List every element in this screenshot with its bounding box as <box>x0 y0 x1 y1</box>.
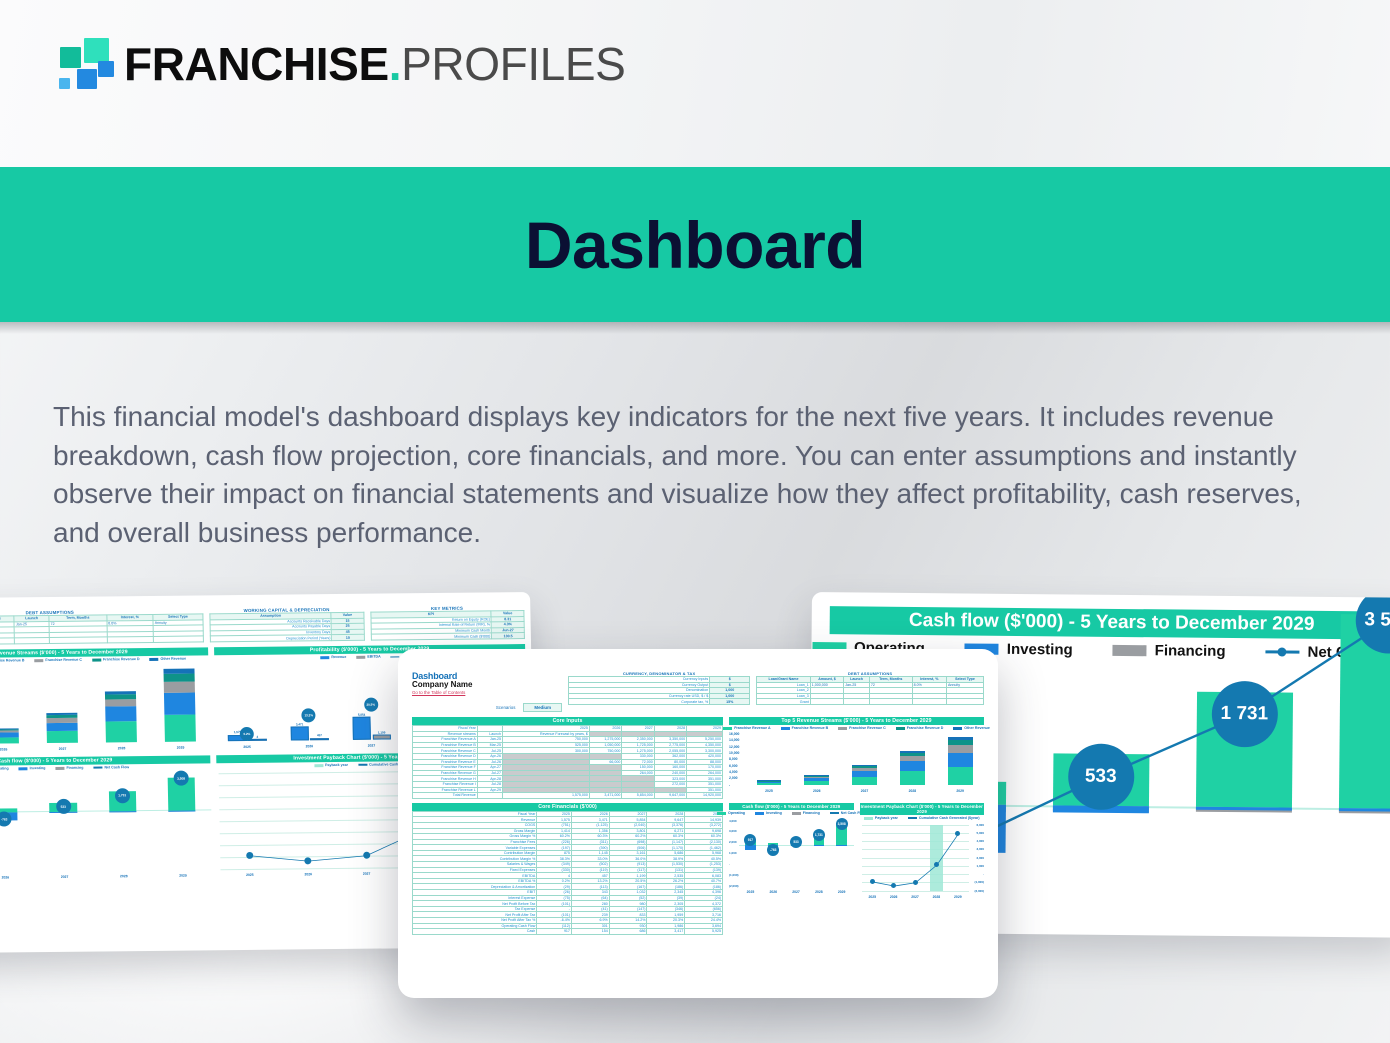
legend-label: Revenue <box>331 655 346 659</box>
bar-segment[interactable] <box>164 693 195 715</box>
data-point-bubble[interactable]: 20.5% <box>364 697 378 711</box>
bar-segment[interactable] <box>47 715 78 718</box>
bar-segment[interactable] <box>105 694 136 699</box>
legend-item: Franchise Revenue D <box>92 657 140 661</box>
y-axis-tick: 3,000 <box>729 829 737 833</box>
bar-segment[interactable] <box>105 691 136 695</box>
y-axis-tick: 4,000 <box>729 819 737 823</box>
legend-label: Operating <box>0 767 9 771</box>
bar-segment[interactable] <box>757 783 782 784</box>
table-cell: 9,647,000 <box>654 793 686 799</box>
legend-item: Franchise Revenue A <box>723 726 770 730</box>
table-row: Grant <box>757 699 984 705</box>
table-cell <box>153 636 203 642</box>
x-axis-tick: 2025 <box>739 890 762 894</box>
brand-name-dot: . <box>389 38 401 90</box>
y-axis-tick: 16,000 <box>729 732 739 736</box>
bar-segment[interactable] <box>105 706 136 722</box>
legend-item: Net Cash Flow <box>93 765 129 769</box>
legend-swatch <box>896 727 905 730</box>
legend-label: Payback year <box>875 816 898 820</box>
bar-segment[interactable] <box>804 778 829 782</box>
table-cell <box>912 699 946 705</box>
legend-label: EBITDA <box>367 655 380 659</box>
legend-item: Revenue <box>320 655 346 659</box>
bar-segment[interactable] <box>948 737 973 741</box>
table-cell <box>844 699 870 705</box>
legend-item: Franchise Revenue D <box>896 726 944 730</box>
bar-segment[interactable] <box>852 766 877 768</box>
data-point-bubble[interactable]: 1 731 <box>1211 681 1278 748</box>
x-axis-tick: 2025 <box>216 744 278 749</box>
legend-swatch <box>19 767 28 770</box>
table-row: Corporate tax, %15% <box>569 699 750 705</box>
table-row: Depreciation Period (Years)10 <box>210 635 364 642</box>
center-chart-title-top5: Top 5 Revenue Streams ($'000) - 5 Years … <box>729 717 984 725</box>
legend-label: Franchise Revenue A <box>734 726 770 730</box>
table-cell: 5,854,000 <box>622 793 654 799</box>
center-legend-top5: Franchise Revenue AFranchise Revenue BFr… <box>729 725 984 732</box>
bar-segment[interactable] <box>948 753 973 768</box>
table-cell: Minimum Cash ($'000) <box>371 633 492 640</box>
bar-segment[interactable] <box>852 765 877 766</box>
legend-swatch <box>55 767 64 770</box>
data-point-marker[interactable] <box>304 857 311 864</box>
bar-segment[interactable] <box>804 781 829 785</box>
data-point-bubble[interactable]: -763 <box>767 844 779 856</box>
legend-swatch <box>830 812 839 813</box>
data-point-marker[interactable] <box>870 879 875 884</box>
x-axis-tick: 2029 <box>153 873 212 878</box>
x-axis-tick: 2026 <box>278 744 340 749</box>
center-chart-payback[interactable]: (2,000)(1,000)-1,0002,0003,0004,0005,000… <box>860 822 984 900</box>
legend-swatch <box>838 727 847 730</box>
legend-swatch <box>320 656 329 659</box>
core-inputs-table[interactable]: Fiscal Year20252026202720282029Revenue s… <box>412 725 723 799</box>
x-axis-tick: 2026 <box>0 747 33 752</box>
x-axis-tick: 2027 <box>337 871 395 876</box>
bar-segment[interactable] <box>0 732 19 738</box>
table-cell: 10 <box>332 635 364 641</box>
table-cell: 14,920,000 <box>687 793 723 799</box>
legend-item: Franchise Revenue B <box>0 659 24 663</box>
bar-segment[interactable] <box>106 721 137 742</box>
table-cell <box>49 637 107 643</box>
legend-item: Franchise Revenue C <box>838 726 886 730</box>
bar-segment[interactable] <box>0 738 19 744</box>
data-point-bubble[interactable]: 1,731 <box>115 788 130 803</box>
legend-label: Net Cash Flow <box>104 765 129 769</box>
center-chart-cashflow[interactable]: (2,000)(1,000)-1,0002,0003,0004,00091720… <box>729 817 853 895</box>
legend-label: Other Revenue <box>161 657 187 661</box>
debt-assumptions-table[interactable]: Loan/Grant NameAmount, $LaunchTerm, Mont… <box>0 613 204 645</box>
logo-squares-icon <box>53 36 107 91</box>
y-axis-tick: 14,000 <box>729 738 739 742</box>
bar-segment[interactable] <box>372 735 391 740</box>
x-axis-tick: 2026 <box>883 895 904 899</box>
table-cell: Corporate tax, % <box>569 699 710 705</box>
legend-label: Franchise Revenue B <box>792 726 829 730</box>
legend-item: Investing <box>19 766 46 770</box>
x-axis-tick: 2029 <box>151 745 210 750</box>
legend-swatch <box>1113 645 1147 656</box>
table-cell <box>15 638 50 644</box>
x-axis-tick: 2025 <box>745 789 793 793</box>
x-axis-tick: 2027 <box>33 746 92 751</box>
data-point-bubble[interactable]: 917 <box>744 834 756 846</box>
legend-swatch <box>34 659 43 662</box>
table-cell: 15% <box>710 699 750 705</box>
table-cell: 130.5 <box>492 633 525 639</box>
brand-name-bold: FRANCHISE <box>124 38 389 90</box>
bar-segment[interactable] <box>165 715 196 742</box>
legend-item: Other Revenue <box>953 726 990 730</box>
x-axis-tick: 2027 <box>785 890 808 894</box>
legend-item: Franchise Revenue C <box>34 658 82 662</box>
bar-segment[interactable] <box>900 751 925 753</box>
legend-swatch <box>953 727 962 730</box>
y-axis-tick: - <box>729 783 730 787</box>
bar-segment[interactable] <box>804 776 829 777</box>
data-point-marker[interactable] <box>246 852 253 859</box>
bar-segment[interactable] <box>852 771 877 777</box>
bar-segment[interactable] <box>757 782 782 784</box>
y-axis-tick: - <box>729 862 730 866</box>
core-financials-title: Core Financials ($'000) <box>412 803 723 811</box>
brand-wordmark: FRANCHISE.PROFILES <box>124 41 625 87</box>
center-chart-top5[interactable]: -2,0004,0006,0008,00010,00012,00014,0001… <box>729 732 984 794</box>
legend-label: Payback year <box>325 763 348 767</box>
bar-segment[interactable] <box>0 730 19 732</box>
bar-segment[interactable] <box>900 771 925 785</box>
bar-segment[interactable] <box>105 699 136 706</box>
legend-label: Investing <box>30 766 46 770</box>
center-chart-title-payback: Investment Payback Chart ($'000) - 5 Yea… <box>860 803 984 815</box>
legend-label: Franchise Revenue D <box>103 657 140 661</box>
legend-label: Operating <box>728 811 745 815</box>
bar-segment[interactable] <box>852 768 877 771</box>
table-cell: 917 <box>537 929 572 935</box>
bar-segment[interactable] <box>852 777 877 785</box>
bar-segment[interactable] <box>900 756 925 761</box>
legend-label: Other Revenue <box>964 726 990 730</box>
bar-segment[interactable] <box>900 753 925 756</box>
bar-segment[interactable] <box>757 780 782 781</box>
y-axis-tick: 6,000 <box>729 764 738 768</box>
legend-item: Payback year <box>864 816 898 820</box>
table-of-contents-link[interactable]: Go to the Table of Contents <box>412 690 562 695</box>
legend-swatch <box>314 764 323 767</box>
bar-segment[interactable] <box>164 669 195 675</box>
legend-label: Financing <box>803 811 820 815</box>
table-cell: 1,575,000 <box>503 793 590 799</box>
legend-label: Cumulative Cash Generated ($year) <box>919 816 980 820</box>
legend-label: Franchise Revenue B <box>0 659 24 663</box>
legend-label: Investing <box>1007 641 1073 659</box>
legend-swatch <box>1266 650 1300 653</box>
legend-swatch <box>723 727 732 730</box>
bar-value-label: 457 <box>310 734 329 738</box>
cashflow-chart-title: Cash flow ($'000) - 5 Years to December … <box>830 606 1390 639</box>
key-metrics-table[interactable]: KPIValueReturn on Equity (ROE)8.31Intern… <box>370 610 525 641</box>
x-axis-tick: 2028 <box>926 895 947 899</box>
legend-label: Financing <box>66 766 83 770</box>
x-axis-tick: 2026 <box>762 890 785 894</box>
bar-segment[interactable] <box>47 718 78 723</box>
legend-swatch <box>356 656 365 659</box>
legend-item: Other Revenue <box>150 657 187 661</box>
y-axis-tick: 2,000 <box>729 776 738 780</box>
x-axis-tick: 2025 <box>862 895 883 899</box>
legend-item: Financing <box>55 766 83 770</box>
scenario-selector[interactable]: Scenarios Medium <box>412 703 562 712</box>
legend-item: Investing <box>755 811 782 815</box>
table-cell: 5,925 <box>685 929 723 935</box>
data-point-bubble[interactable]: 533 <box>1067 744 1134 811</box>
center-company-name: Company Name <box>412 680 562 689</box>
legend-label: Financing <box>1155 642 1226 660</box>
chart-cashflow-left[interactable]: (2,000)(1,000)-1,0002,0003,0004,00091720… <box>0 770 213 881</box>
data-point-bubble[interactable]: 533 <box>790 836 802 848</box>
bar-segment[interactable] <box>352 717 371 740</box>
table-cell <box>947 699 984 705</box>
table-row: Cash9171546863,4175,925 <box>413 929 723 935</box>
table-cell <box>107 637 154 643</box>
table-cell: Depreciation Period (Years) <box>210 635 332 642</box>
center-legend-payback: Payback yearCumulative Cash Generated ($… <box>860 815 984 822</box>
legend-swatch <box>717 812 726 815</box>
x-axis-tick: 2027 <box>841 789 889 793</box>
table-cell: 686 <box>609 929 647 935</box>
x-axis-tick: 2026 <box>0 875 35 880</box>
center-debt-table[interactable]: Loan/Grant NameAmount, $LaunchTerm, Mont… <box>756 676 984 705</box>
data-point-marker[interactable] <box>913 880 918 885</box>
table-row: Minimum Cash ($'000)130.5 <box>371 633 525 640</box>
table-cell <box>0 638 15 644</box>
x-axis-tick: 2027 <box>35 874 94 879</box>
table-row: Grant <box>0 636 203 645</box>
scenario-value[interactable]: Medium <box>523 703 562 712</box>
intro-paragraph: This financial model's dashboard display… <box>53 398 1338 553</box>
x-axis-tick: 2025 <box>221 872 279 877</box>
y-axis-tick: 10,000 <box>729 751 739 755</box>
working-capital-table[interactable]: AssumptionValueAccounts Receivable Days1… <box>209 612 364 643</box>
bar-segment[interactable] <box>745 845 755 850</box>
bar-segment[interactable] <box>164 681 195 693</box>
bar-segment[interactable] <box>948 767 973 785</box>
legend-swatch <box>92 658 101 661</box>
y-axis-tick: 8,000 <box>729 757 738 761</box>
page-title: Dashboard <box>0 207 1390 283</box>
data-point-marker[interactable] <box>363 852 370 859</box>
payback-line <box>860 822 984 900</box>
currency-block-table[interactable]: Currency Inputs$Currency Output$Denomina… <box>568 676 750 705</box>
x-axis-tick: 2029 <box>947 895 968 899</box>
bar-value-label: 5,854 <box>352 712 371 716</box>
bar-segment[interactable] <box>948 740 973 745</box>
x-axis-tick: 2028 <box>888 789 936 793</box>
x-axis-tick: 2029 <box>830 890 853 894</box>
bar-segment[interactable] <box>900 761 925 771</box>
y-axis-tick: 1,000 <box>729 851 737 855</box>
dashboard-card-center[interactable]: Dashboard Company Name Go to the Table o… <box>398 649 998 998</box>
bar-segment[interactable] <box>804 775 829 776</box>
legend-item: EBITDA <box>356 655 380 659</box>
bar-segment[interactable] <box>47 731 78 743</box>
x-axis-tick: 2028 <box>94 873 153 878</box>
bar-segment[interactable] <box>804 776 829 777</box>
legend-item: Cumulative Cash Generated ($year) <box>908 816 980 820</box>
legend-swatch <box>755 812 764 815</box>
legend-swatch <box>864 817 873 820</box>
x-axis-tick: 2029 <box>936 789 984 793</box>
data-point-bubble[interactable]: 3,508 <box>836 818 848 830</box>
legend-item: Operating <box>0 767 9 771</box>
table-cell: 3,417 <box>647 929 685 935</box>
title-band: Dashboard <box>0 167 1390 322</box>
legend-swatch <box>781 727 790 730</box>
scenario-label: Scenarios <box>496 705 516 710</box>
y-axis-tick: (1,000) <box>729 873 739 877</box>
chart-top5-revenue[interactable]: -2,0004,0006,0008,00010,00012,00014,0001… <box>0 662 210 753</box>
brand-name-light: PROFILES <box>401 38 625 90</box>
center-chart-title-cashflow: Cash flow ($'000) - 5 Years to December … <box>729 803 853 810</box>
table-row: Total Revenue1,575,0003,471,0005,854,000… <box>413 793 723 799</box>
legend-item: Financing <box>1113 642 1226 660</box>
data-point-bubble[interactable]: 13.2% <box>302 708 316 722</box>
table-cell: Grant <box>757 699 811 705</box>
legend-swatch <box>150 658 159 661</box>
table-cell: Cash <box>413 929 537 935</box>
x-axis-tick: 2027 <box>904 895 925 899</box>
legend-item: Franchise Revenue B <box>781 726 829 730</box>
legend-item: Operating <box>717 811 745 815</box>
y-axis-tick: 4,000 <box>729 770 738 774</box>
legend-label: Investing <box>766 811 782 815</box>
data-point-bubble[interactable]: 1,731 <box>813 829 825 841</box>
legend-label: Franchise Revenue C <box>849 726 886 730</box>
table-cell: Total Revenue <box>413 793 478 799</box>
bar-segment[interactable] <box>310 738 329 740</box>
data-point-bubble[interactable]: 533 <box>56 799 71 814</box>
y-axis-tick: 2,000 <box>729 840 737 844</box>
data-point-marker[interactable] <box>934 862 939 867</box>
legend-swatch <box>391 656 400 657</box>
legend-label: Franchise Revenue C <box>45 658 82 662</box>
legend-item: Financing <box>792 811 820 815</box>
table-cell: 154 <box>571 929 609 935</box>
band-shadow <box>0 322 1390 334</box>
bar-value-label: 1,199 <box>372 730 391 734</box>
core-inputs-title: Core Inputs <box>412 717 723 725</box>
legend-label: Franchise Revenue D <box>907 726 944 730</box>
x-axis-tick: 2027 <box>340 743 402 748</box>
legend-swatch <box>908 817 917 818</box>
table-cell: 3,471,000 <box>589 793 621 799</box>
bar-segment[interactable] <box>47 722 78 731</box>
x-axis-tick: 2026 <box>793 789 841 793</box>
table-cell <box>869 699 912 705</box>
table-cell <box>477 793 502 799</box>
x-axis-tick: 2028 <box>92 746 151 751</box>
x-axis-tick: 2028 <box>807 890 830 894</box>
core-financials-table[interactable]: Fiscal Year20252026202720282029Revenue1,… <box>412 811 723 935</box>
page-header: FRANCHISE.PROFILES <box>0 0 1390 167</box>
legend-item: Payback year <box>314 763 348 767</box>
table-cell <box>810 699 843 705</box>
bar-segment[interactable] <box>46 713 77 715</box>
legend-swatch <box>792 812 801 815</box>
bar-value-label: 3,471 <box>290 722 309 726</box>
y-axis-tick: (2,000) <box>729 884 739 888</box>
bar-segment[interactable] <box>290 727 309 741</box>
bar-segment[interactable] <box>164 674 195 682</box>
x-axis-tick: 2026 <box>279 872 337 877</box>
legend-swatch <box>93 767 102 768</box>
center-legend-cashflow: OperatingInvestingFinancingNet Cash Flow <box>729 810 853 817</box>
y-axis-tick: 12,000 <box>729 745 739 749</box>
brand-logo: FRANCHISE.PROFILES <box>53 36 625 91</box>
bar-segment[interactable] <box>948 745 973 753</box>
legend-swatch <box>358 764 367 765</box>
